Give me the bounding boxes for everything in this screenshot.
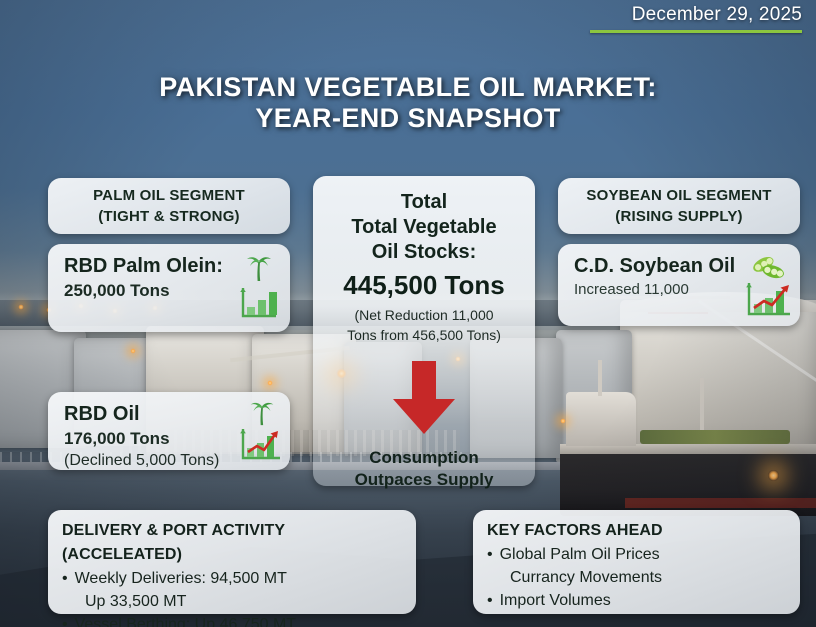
total-stocks-panel: Total Total Vegetable Oil Stocks: 445,50…	[313, 176, 535, 486]
list-item: • Weekly Deliveries: 94,500 MT	[62, 567, 404, 590]
delivery-item-1: Vessel Berthing: Up 46,750 MT	[75, 613, 296, 627]
date-text: December 29, 2025	[590, 4, 802, 26]
delivery-sub-item: Up 33,500 MT	[62, 590, 404, 613]
bullet-dot-icon: •	[62, 567, 68, 590]
soybean-segment-line-2: (RISING SUPPLY)	[615, 206, 742, 227]
bullet-dot-icon: •	[487, 589, 493, 612]
bar-chart-trend-icon	[744, 280, 792, 325]
list-item: • Global Palm Oil Prices	[487, 543, 788, 566]
key-factor-item-0: Global Palm Oil Prices	[500, 543, 660, 566]
page-title: PAKISTAN VEGETABLE OIL MARKET: YEAR-END …	[0, 72, 816, 134]
soybean-segment-line-1: SOYBEAN OIL SEGMENT	[586, 185, 771, 206]
bar-chart-trend-icon	[238, 426, 282, 469]
list-item: • Vessel Berthing: Up 46,750 MT	[62, 613, 404, 627]
palm-oil-segment-header-card: PALM OIL SEGMENT (TIGHT & STRONG)	[48, 178, 290, 234]
rbd-palm-olein-card: RBD Palm Olein: 250,000 Tons	[48, 244, 290, 332]
cd-soybean-oil-card: C.D. Soybean Oil Increased 11,000	[558, 244, 800, 326]
date-underline-rule	[590, 30, 802, 33]
bar-chart-icon	[238, 286, 278, 325]
date-header: December 29, 2025	[590, 4, 802, 33]
conclusion-line-2: Outpaces Supply	[313, 469, 535, 491]
total-stocks-value: 445,500 Tons	[313, 265, 535, 305]
total-label-line-3: Oil Stocks:	[313, 240, 535, 265]
total-label-line-2: Total Vegetable	[313, 215, 535, 240]
key-factor-sub-item: Currancy Movements	[487, 566, 788, 589]
total-note-line-1: (Net Reduction 11,000	[313, 305, 535, 325]
key-factor-item-1: Import Volumes	[500, 589, 611, 612]
delivery-port-heading: DELIVERY & PORT ACTIVITY (ACCELEATED)	[62, 519, 404, 567]
rbd-oil-card: RBD Oil 176,000 Tons (Declined 5,000 Ton…	[48, 392, 290, 470]
total-label-line-1: Total	[313, 190, 535, 215]
key-factors-ahead-card: KEY FACTORS AHEAD • Global Palm Oil Pric…	[473, 510, 800, 614]
delivery-item-0: Weekly Deliveries: 94,500 MT	[75, 567, 287, 590]
soybean-oil-segment-header-card: SOYBEAN OIL SEGMENT (RISING SUPPLY)	[558, 178, 800, 234]
infographic-root: December 29, 2025 PAKISTAN VEGETABLE OIL…	[0, 0, 816, 627]
conclusion-line-1: Consumption	[313, 447, 535, 469]
palm-segment-line-2: (TIGHT & STRONG)	[98, 206, 240, 227]
bullet-dot-icon: •	[487, 543, 493, 566]
page-title-line-1: PAKISTAN VEGETABLE OIL MARKET:	[0, 72, 816, 103]
page-title-line-2: YEAR-END SNAPSHOT	[0, 103, 816, 134]
key-factors-heading: KEY FACTORS AHEAD	[487, 519, 788, 543]
palm-tree-icon	[242, 250, 276, 289]
list-item: • Import Volumes	[487, 589, 788, 612]
down-arrow-icon	[313, 361, 535, 435]
delivery-port-activity-card: DELIVERY & PORT ACTIVITY (ACCELEATED) • …	[48, 510, 416, 614]
bullet-dot-icon: •	[62, 613, 68, 627]
total-note-line-2: Tons from 456,500 Tons)	[313, 325, 535, 345]
palm-segment-line-1: PALM OIL SEGMENT	[93, 185, 245, 206]
